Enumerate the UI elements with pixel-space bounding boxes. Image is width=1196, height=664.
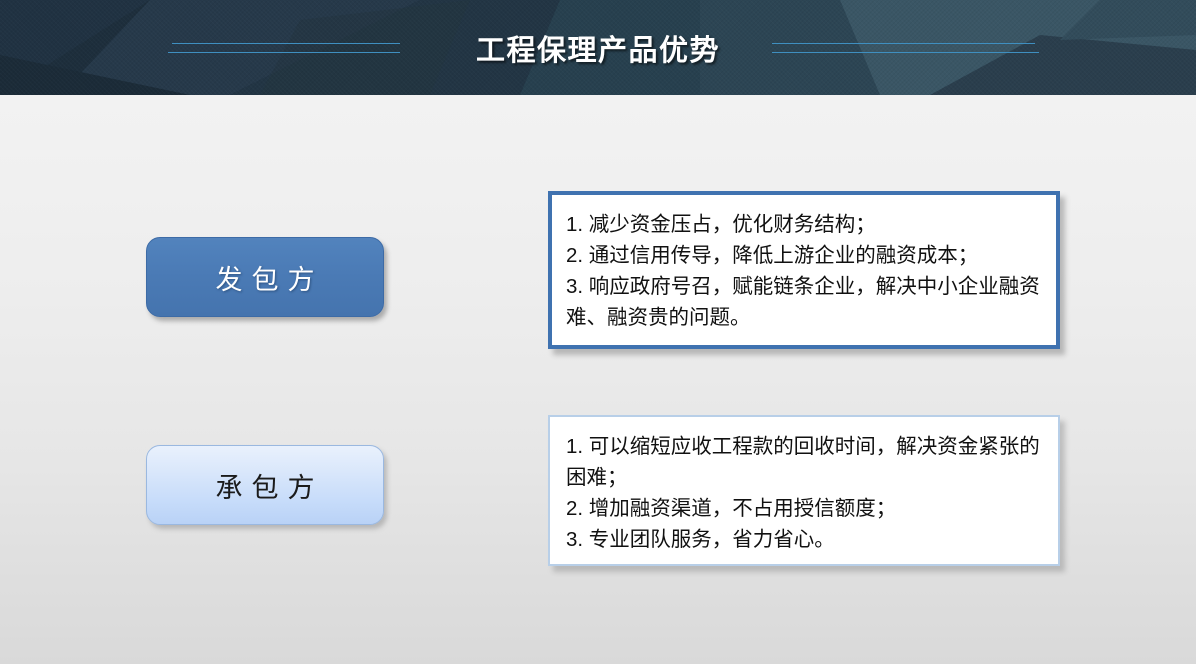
benefits-panel-contractor-text: 1. 可以缩短应收工程款的回收时间，解决资金紧张的困难； 2. 增加融资渠道，不…	[566, 431, 1048, 555]
benefits-panel-contractor: 1. 可以缩短应收工程款的回收时间，解决资金紧张的困难； 2. 增加融资渠道，不…	[548, 415, 1060, 566]
benefits-panel-employer: 1. 减少资金压占，优化财务结构； 2. 通过信用传导，降低上游企业的融资成本；…	[548, 191, 1060, 349]
benefits-panel-employer-text: 1. 减少资金压占，优化财务结构； 2. 通过信用传导，降低上游企业的融资成本；…	[566, 209, 1048, 333]
party-button-employer[interactable]: 发包方	[146, 237, 384, 317]
header-banner: 工程保理产品优势	[0, 0, 1196, 95]
party-button-contractor-label: 承包方	[207, 466, 324, 505]
party-button-contractor[interactable]: 承包方	[146, 445, 384, 525]
slide: 工程保理产品优势 发包方 1. 减少资金压占，优化财务结构； 2. 通过信用传导…	[0, 0, 1196, 664]
page-title: 工程保理产品优势	[0, 27, 1196, 69]
party-button-employer-label: 发包方	[207, 258, 324, 297]
